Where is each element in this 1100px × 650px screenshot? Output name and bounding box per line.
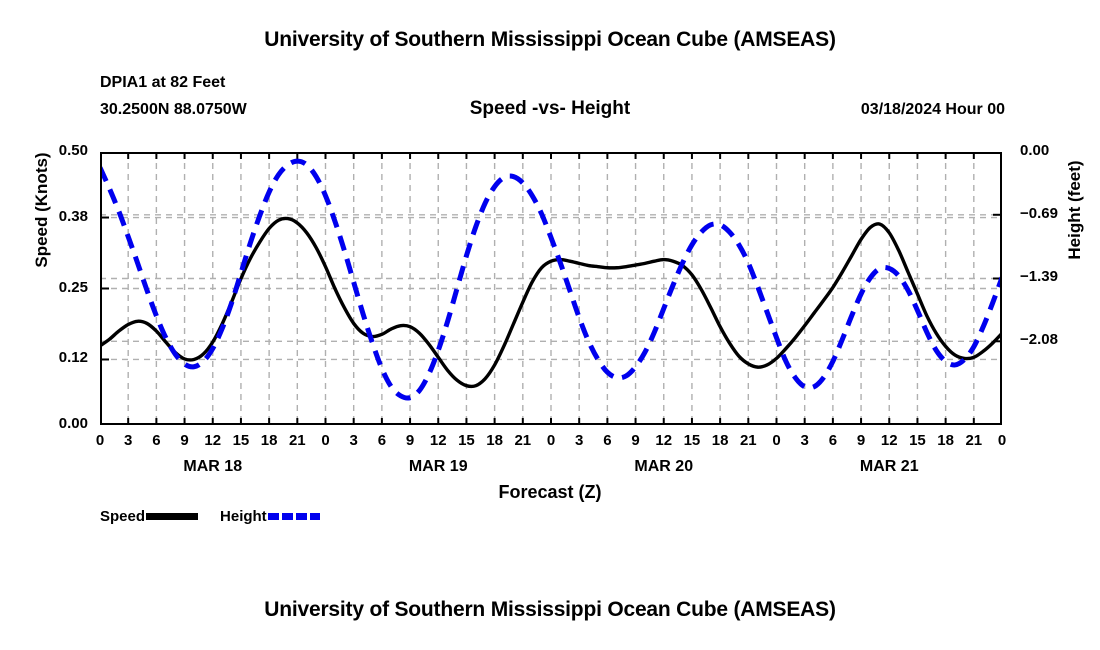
x-tick: 9 bbox=[846, 432, 876, 449]
chart-page: University of Southern Mississippi Ocean… bbox=[0, 0, 1100, 650]
legend-swatch-speed bbox=[146, 513, 198, 520]
footer-title: University of Southern Mississippi Ocean… bbox=[0, 598, 1100, 622]
x-tick: 0 bbox=[987, 432, 1017, 449]
x-tick: 18 bbox=[931, 432, 961, 449]
x-tick: 3 bbox=[339, 432, 369, 449]
x-tick: 18 bbox=[705, 432, 735, 449]
forecast-datestamp: 03/18/2024 Hour 00 bbox=[861, 101, 1005, 119]
x-tick: 9 bbox=[621, 432, 651, 449]
legend-swatch-height bbox=[268, 513, 320, 520]
y-tick-right: −0.69 bbox=[1020, 205, 1086, 222]
x-day-label: MAR 18 bbox=[153, 458, 273, 476]
x-tick: 12 bbox=[649, 432, 679, 449]
y-tick-left: 0.50 bbox=[30, 142, 88, 159]
station-label: DPIA1 at 82 Feet bbox=[100, 74, 225, 92]
x-tick: 0 bbox=[536, 432, 566, 449]
y-tick-right: −2.08 bbox=[1020, 331, 1086, 348]
x-tick: 15 bbox=[902, 432, 932, 449]
x-tick: 0 bbox=[85, 432, 115, 449]
x-tick: 6 bbox=[592, 432, 622, 449]
x-tick: 0 bbox=[762, 432, 792, 449]
page-title: University of Southern Mississippi Ocean… bbox=[0, 28, 1100, 52]
y-tick-right: 0.00 bbox=[1020, 142, 1086, 159]
legend-label-speed: Speed bbox=[100, 508, 145, 525]
x-tick: 21 bbox=[508, 432, 538, 449]
x-tick: 6 bbox=[818, 432, 848, 449]
x-tick: 21 bbox=[959, 432, 989, 449]
y-tick-left: 0.12 bbox=[30, 349, 88, 366]
x-day-label: MAR 21 bbox=[829, 458, 949, 476]
chart-legend: Speed Height bbox=[100, 508, 342, 525]
x-tick: 12 bbox=[874, 432, 904, 449]
x-tick: 0 bbox=[311, 432, 341, 449]
legend-label-height: Height bbox=[220, 508, 267, 525]
legend-entry-height: Height bbox=[220, 508, 342, 525]
x-axis-label: Forecast (Z) bbox=[0, 482, 1100, 503]
x-tick: 3 bbox=[790, 432, 820, 449]
x-tick: 12 bbox=[198, 432, 228, 449]
y-tick-left: 0.00 bbox=[30, 415, 88, 432]
x-day-label: MAR 20 bbox=[604, 458, 724, 476]
y-tick-left: 0.25 bbox=[30, 279, 88, 296]
x-tick: 9 bbox=[170, 432, 200, 449]
x-tick: 18 bbox=[254, 432, 284, 449]
x-tick: 21 bbox=[282, 432, 312, 449]
x-tick: 3 bbox=[113, 432, 143, 449]
x-tick: 6 bbox=[141, 432, 171, 449]
x-day-label: MAR 19 bbox=[378, 458, 498, 476]
x-tick: 12 bbox=[423, 432, 453, 449]
x-tick: 21 bbox=[733, 432, 763, 449]
legend-entry-speed: Speed bbox=[100, 508, 220, 525]
x-tick: 3 bbox=[564, 432, 594, 449]
x-tick: 15 bbox=[451, 432, 481, 449]
y-tick-left: 0.38 bbox=[30, 208, 88, 225]
plot-frame bbox=[100, 152, 1002, 425]
x-tick: 6 bbox=[367, 432, 397, 449]
x-tick: 18 bbox=[480, 432, 510, 449]
x-tick: 15 bbox=[226, 432, 256, 449]
x-tick: 15 bbox=[677, 432, 707, 449]
x-tick: 9 bbox=[395, 432, 425, 449]
y-tick-right: −1.39 bbox=[1020, 268, 1086, 285]
